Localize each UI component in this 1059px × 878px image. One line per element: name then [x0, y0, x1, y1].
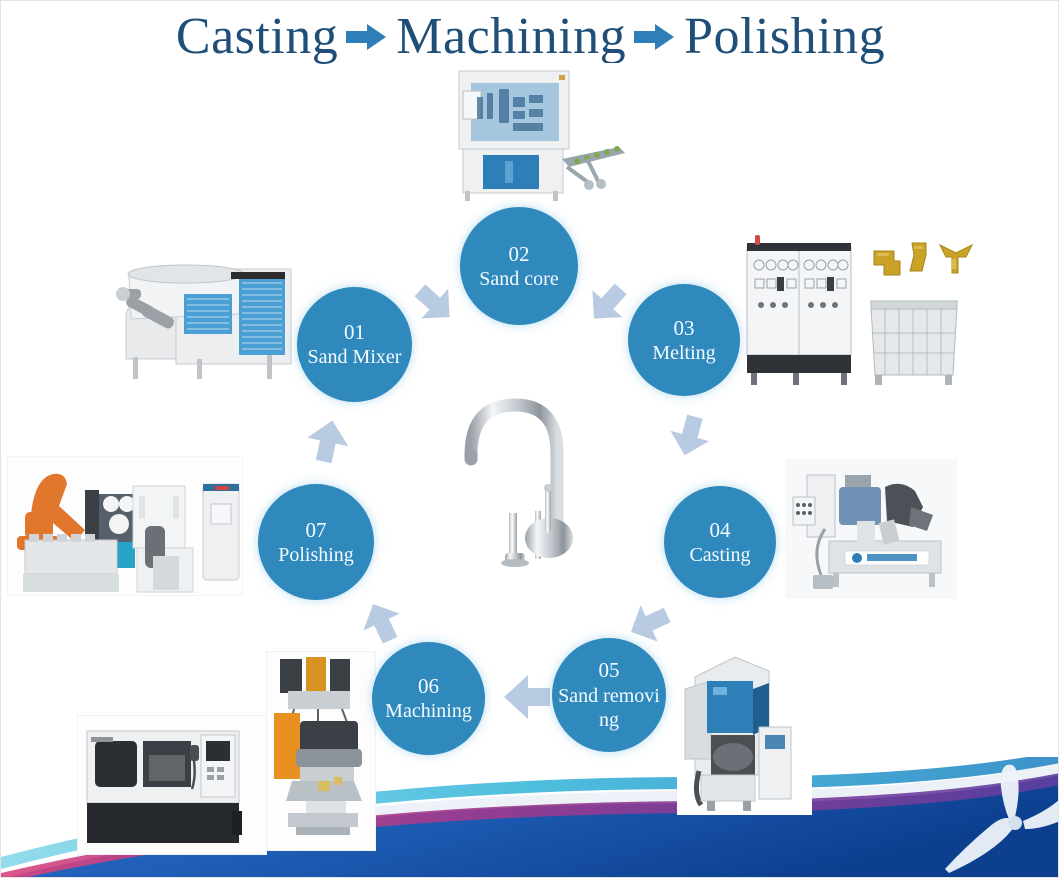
title-word-casting: Casting	[176, 11, 338, 63]
step-label: Sand removing	[552, 684, 666, 733]
arrow-07-to-01	[299, 409, 357, 473]
step-number: 02	[509, 241, 530, 267]
step-number: 07	[306, 517, 327, 543]
step-label: Sand core	[475, 267, 562, 291]
step-label: Machining	[381, 699, 476, 723]
right-arrow-icon	[346, 24, 388, 50]
photo-casting-machine	[785, 459, 957, 599]
photo-sand-core-machine	[449, 63, 629, 203]
photo-sand-mixer	[101, 219, 306, 394]
step-circle-02[interactable]: 02 Sand core	[460, 207, 578, 325]
step-label: Melting	[648, 341, 719, 365]
step-label: Polishing	[274, 543, 358, 567]
photo-shot-blast	[677, 635, 812, 815]
photo-faucet-product	[453, 393, 601, 579]
step-circle-01[interactable]: 01 Sand Mixer	[297, 287, 412, 402]
step-number: 03	[674, 315, 695, 341]
page-title: Casting Machining Polishing	[1, 5, 1059, 69]
step-number: 06	[418, 673, 439, 699]
step-number: 04	[710, 517, 731, 543]
step-circle-03[interactable]: 03 Melting	[628, 284, 740, 396]
step-circle-05[interactable]: 05 Sand removing	[552, 638, 666, 752]
step-circle-04[interactable]: 04 Casting	[664, 486, 776, 598]
step-label: Casting	[685, 543, 754, 567]
photo-drilling-machine	[266, 651, 376, 851]
photo-polishing-robot	[7, 456, 243, 596]
arrow-01-to-02	[405, 273, 463, 333]
photo-metal-crate	[863, 289, 965, 389]
slide-canvas: Casting Machining Polishing	[0, 0, 1059, 878]
title-word-machining: Machining	[396, 11, 626, 63]
step-circle-06[interactable]: 06 Machining	[372, 642, 485, 755]
step-circle-07[interactable]: 07 Polishing	[258, 484, 374, 600]
step-number: 05	[599, 657, 620, 683]
step-number: 01	[344, 319, 365, 345]
photo-melting-furnace	[737, 229, 862, 389]
photo-cnc-machining	[77, 715, 267, 855]
arrow-03-to-04	[661, 405, 719, 465]
title-word-polishing: Polishing	[684, 11, 885, 63]
arrow-05-to-06	[496, 669, 558, 725]
right-arrow-icon	[634, 24, 676, 50]
arrow-02-to-03	[579, 273, 637, 333]
step-label: Sand Mixer	[304, 345, 406, 369]
photo-brass-fittings	[868, 233, 978, 287]
arrow-06-to-07	[353, 593, 411, 653]
